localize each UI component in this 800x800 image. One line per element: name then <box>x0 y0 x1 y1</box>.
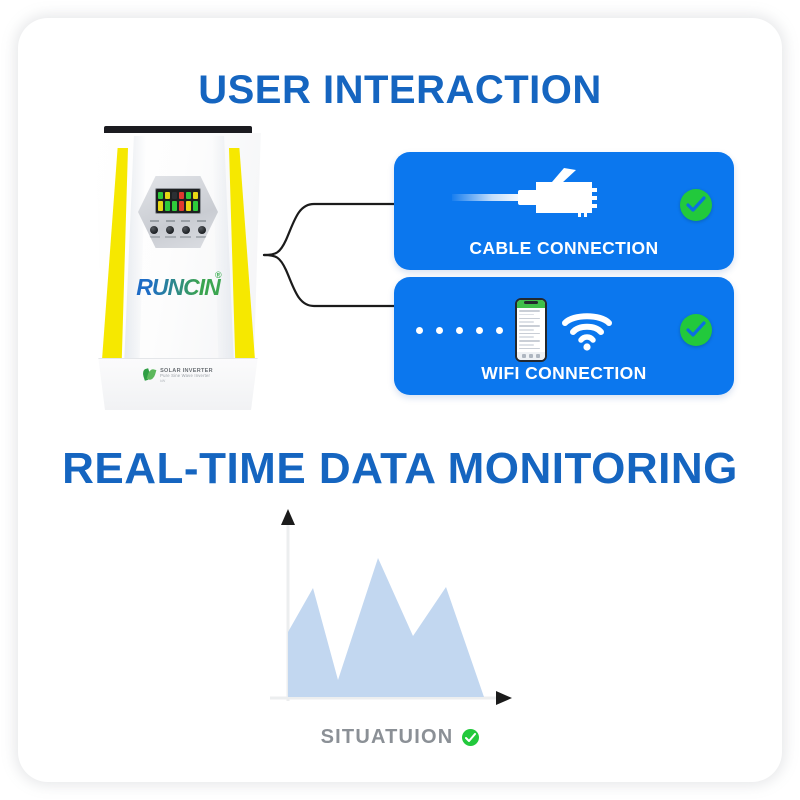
device-base-label: SOLAR INVERTER Pure Sine Wave Inverter k… <box>88 368 268 383</box>
lcd-segment-row-top <box>158 192 198 199</box>
device-button-1[interactable] <box>150 226 158 234</box>
registered-trademark-icon: ® <box>215 270 222 280</box>
button-labels <box>150 220 206 222</box>
chart-caption-text: SITUATUION <box>321 726 454 749</box>
wifi-icon <box>561 309 613 351</box>
check-circle-icon-wifi <box>680 314 712 346</box>
page-title-user-interaction: USER INTERACTION <box>0 68 800 113</box>
device-base <box>95 358 261 410</box>
device-button-2[interactable] <box>166 226 174 234</box>
base-label-subtitle: Pure Sine Wave Inverter <box>160 374 213 379</box>
lcd-segment-row-bottom <box>158 201 198 211</box>
screenshot-root: USER INTERACTION <box>0 0 800 800</box>
chart-caption: SITUATUION <box>250 726 550 749</box>
chart-area-series <box>288 558 484 697</box>
card-wifi-label: WIFI CONNECTION <box>394 363 734 384</box>
button-sublabels <box>149 236 207 238</box>
card-cable-label: CABLE CONNECTION <box>394 238 734 259</box>
smartphone-icon <box>515 298 547 362</box>
device-button-row <box>150 226 206 234</box>
solar-inverter-device: RUNCIN ® SOLAR INVERTER Pure Sine Wave I… <box>88 126 268 410</box>
device-button-4[interactable] <box>198 226 206 234</box>
base-label-rating: kW <box>160 379 213 383</box>
device-brand-logo: RUNCIN <box>88 274 268 301</box>
page-title-real-time-monitoring: REAL-TIME DATA MONITORING <box>0 444 800 494</box>
leaf-icon <box>143 369 156 382</box>
chart-y-axis-arrow <box>281 509 295 525</box>
lcd-display-icon <box>155 188 201 214</box>
card-wifi-connection[interactable]: WIFI CONNECTION <box>394 277 734 395</box>
device-button-3[interactable] <box>182 226 190 234</box>
situation-area-chart <box>250 505 550 715</box>
branch-connector-icon <box>262 170 402 340</box>
chart-x-axis-arrow <box>496 691 512 705</box>
card-cable-connection[interactable]: CABLE CONNECTION <box>394 152 734 270</box>
check-circle-icon-situation <box>462 729 479 746</box>
signal-dots-icon <box>416 327 503 334</box>
check-circle-icon-cable <box>680 189 712 221</box>
rj45-cable-icon <box>452 166 642 228</box>
